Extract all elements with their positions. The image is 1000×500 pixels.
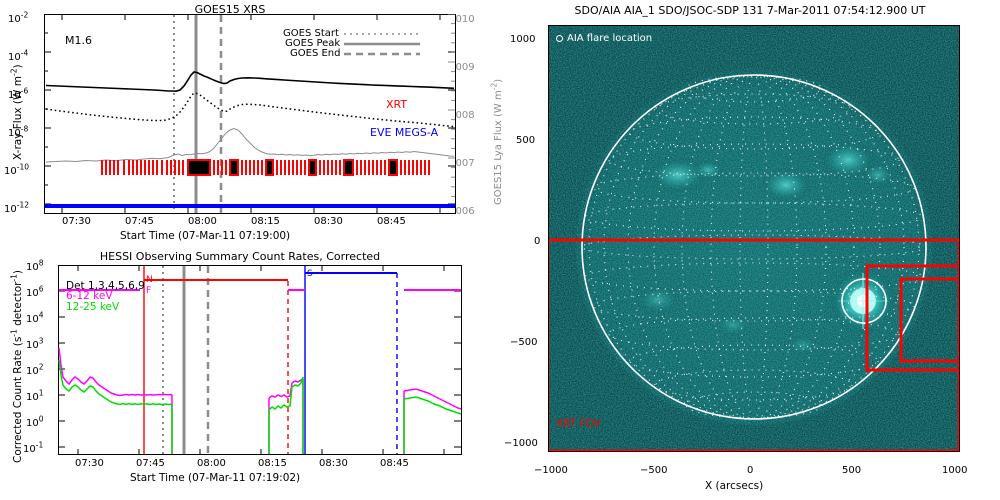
hessi-y-tick: 10-1 (23, 444, 43, 455)
xrt-fov-label: XRT FOV (556, 418, 601, 430)
goes-x-tick: 08:00 (188, 216, 217, 227)
xrt-label: XRT (386, 98, 407, 111)
goes-y-tick: 10-6 (8, 90, 28, 101)
hessi-panel: HESSI Observing Summary Count Rates, Cor… (0, 248, 500, 500)
goes-xrs-panel: GOES15 XRS X-ray Flux (W m-2) GOES15 Lya… (0, 0, 500, 248)
hessi-y-tick: 100 (26, 418, 44, 429)
aia-panel-title: SDO/AIA AIA_1 SDO/JSOC-SDP 131 7-Mar-201… (500, 4, 1000, 17)
goes-y-tick: 10-10 (4, 166, 29, 177)
goes-x-tick: 07:30 (62, 216, 91, 227)
hessi-y-tick: 104 (26, 314, 44, 325)
aia-y-tick: 0 (534, 236, 540, 247)
flare-location-marker-icon (556, 35, 563, 42)
saa-flag-label: S (307, 269, 313, 279)
hessi-y-tick: 102 (26, 366, 44, 377)
aia-x-tick: 500 (842, 465, 861, 476)
goes-x-tick: 08:45 (377, 216, 406, 227)
hessi-y-tick: 103 (26, 340, 44, 351)
flare-class-label: M1.6 (65, 34, 92, 47)
hessi-y-tick: 108 (26, 262, 44, 273)
aia-y-tick: −500 (510, 337, 537, 348)
aia-y-tick: −1000 (504, 438, 538, 449)
hessi-panel-title: HESSI Observing Summary Count Rates, Cor… (0, 250, 480, 263)
aia-image-area (548, 25, 960, 452)
goes-x-tick: 08:30 (314, 216, 343, 227)
goes-y-axis-label: X-ray Flux (W m-2) (12, 64, 24, 160)
night-flag-label: N (146, 275, 153, 285)
hessi-legend-12-25-label: 12-25 keV (66, 301, 119, 313)
goes-y-tick: 10-8 (8, 128, 28, 139)
aia-y-tick: 500 (516, 135, 535, 146)
goes-x-axis-label: Start Time (07-Mar-11 07:19:00) (120, 230, 290, 242)
hessi-y-tick: 106 (26, 288, 44, 299)
aia-y-tick: 1000 (510, 34, 535, 45)
hessi-x-tick: 08:00 (197, 458, 226, 469)
aia-x-tick: 1000 (942, 465, 967, 476)
goes-plot-area (44, 14, 456, 214)
aia-x-axis-label: X (arcsecs) (705, 480, 763, 492)
aia-x-tick: 0 (747, 465, 753, 476)
goes-x-tick: 07:45 (125, 216, 154, 227)
hessi-y-tick: 101 (26, 392, 44, 403)
aia-x-tick: −1000 (534, 465, 568, 476)
aia-image-panel: SDO/AIA AIA_1 SDO/JSOC-SDP 131 7-Mar-201… (500, 0, 1000, 500)
hessi-x-tick: 08:30 (319, 458, 348, 469)
hessi-x-tick: 08:45 (380, 458, 409, 469)
goes-y-tick: 10-2 (8, 14, 28, 25)
aia-flare-location-legend-text: AIA flare location (567, 33, 652, 44)
hessi-x-tick: 07:30 (75, 458, 104, 469)
aia-x-tick: −500 (640, 465, 667, 476)
front-flag-label: F (146, 286, 151, 296)
hessi-plot-area (58, 265, 462, 455)
eve-megs-a-label: EVE MEGS-A (370, 126, 438, 139)
hessi-y-axis-label: Corrected Count Rate (s-1 detector-1) (12, 270, 24, 463)
aia-flare-location-legend: AIA flare location (556, 33, 652, 44)
goes-y-tick: 10-4 (8, 52, 28, 63)
hessi-x-tick: 08:15 (258, 458, 287, 469)
hessi-x-tick: 07:45 (136, 458, 165, 469)
legend-goes-end-label: GOES End (290, 48, 340, 59)
goes-y-tick: 10-12 (4, 204, 29, 215)
hessi-x-axis-label: Start Time (07-Mar-11 07:19:02) (130, 472, 300, 484)
goes-x-tick: 08:15 (251, 216, 280, 227)
